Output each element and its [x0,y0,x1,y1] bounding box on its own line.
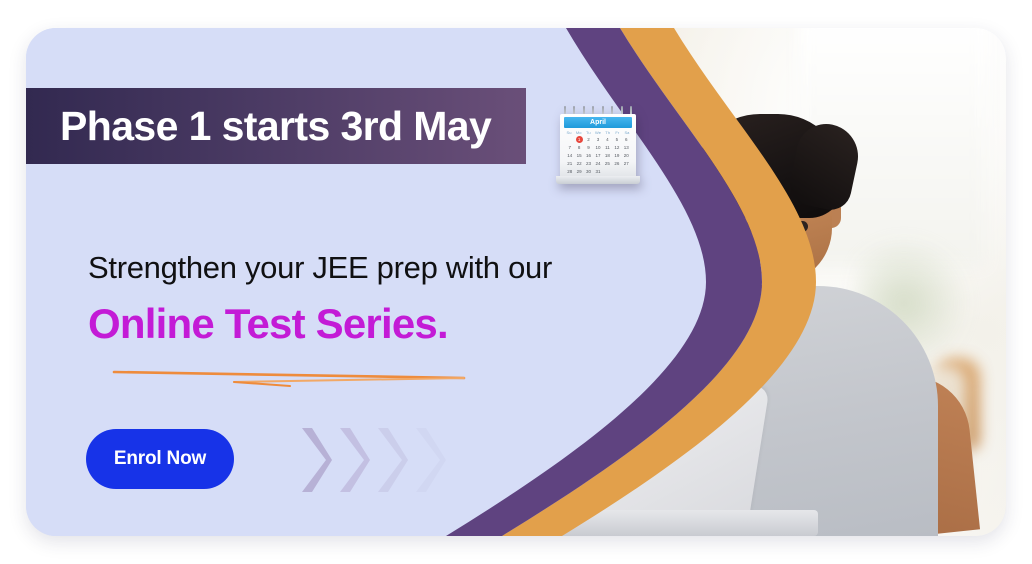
calendar-day: 22 [574,160,583,167]
enrol-now-button[interactable]: Enrol Now [86,429,234,489]
calendar-icon: April SuMoTuWeThFrSa 1234567891011121314… [556,106,640,188]
chevron-right-icon [336,424,370,496]
calendar-day: 26 [612,160,621,167]
calendar-day: 30 [584,168,593,175]
calendar-weekday: Sa [623,130,631,135]
calendar-day: 21 [565,160,574,167]
calendar-weekday: Mo [575,130,583,135]
calendar-body: April SuMoTuWeThFrSa 1234567891011121314… [560,114,636,180]
chevron-right-icon [412,424,446,496]
calendar-day: 17 [593,152,602,159]
calendar-day: 15 [574,152,583,159]
calendar-day: 19 [612,152,621,159]
calendar-weekday: Fr [613,130,621,135]
headline-subtitle: Strengthen your JEE prep with our [88,250,552,286]
phase-announcement-text: Phase 1 starts 3rd May [60,103,491,150]
calendar-day: 5 [612,136,621,143]
calendar-weekday-row: SuMoTuWeThFrSa [565,130,631,135]
calendar-month-label: April [564,117,632,128]
calendar-day: 6 [622,136,631,143]
calendar-stand [556,176,640,184]
calendar-day: 16 [584,152,593,159]
calendar-day: 25 [603,160,612,167]
calendar-day: 29 [574,168,583,175]
calendar-day: 3 [593,136,602,143]
calendar-day: 7 [565,144,574,151]
headline-title: Online Test Series. [88,300,448,348]
phase-announcement-banner: Phase 1 starts 3rd May [26,88,526,164]
calendar-day: 8 [574,144,583,151]
calendar-day: 11 [603,144,612,151]
calendar-weekday: We [594,130,602,135]
calendar-day: 4 [603,136,612,143]
calendar-day: 14 [565,152,574,159]
calendar-weekday: Tu [584,130,592,135]
calendar-day: 1 [576,136,583,143]
calendar-day: 31 [593,168,602,175]
calendar-day-blank [565,136,574,143]
calendar-day: 23 [584,160,593,167]
screenshot-stage: Phase 1 starts 3rd May April SuMoTuWeThF… [0,0,1032,564]
calendar-day: 20 [622,152,631,159]
calendar-day: 10 [593,144,602,151]
calendar-day: 28 [565,168,574,175]
calendar-weekday: Th [604,130,612,135]
calendar-day: 18 [603,152,612,159]
calendar-day: 12 [612,144,621,151]
calendar-weekday: Su [565,130,573,135]
calendar-day: 2 [584,136,593,143]
chevron-right-icon [298,424,332,496]
calendar-day: 27 [622,160,631,167]
calendar-day: 9 [584,144,593,151]
calendar-day: 13 [622,144,631,151]
promo-banner-card: Phase 1 starts 3rd May April SuMoTuWeThF… [26,28,1006,536]
calendar-day-grid: 1234567891011121314151617181920212223242… [565,136,631,175]
chevron-arrows-decoration [298,424,448,496]
chevron-right-icon [374,424,408,496]
orange-underline-swoosh [112,358,472,390]
calendar-day: 24 [593,160,602,167]
